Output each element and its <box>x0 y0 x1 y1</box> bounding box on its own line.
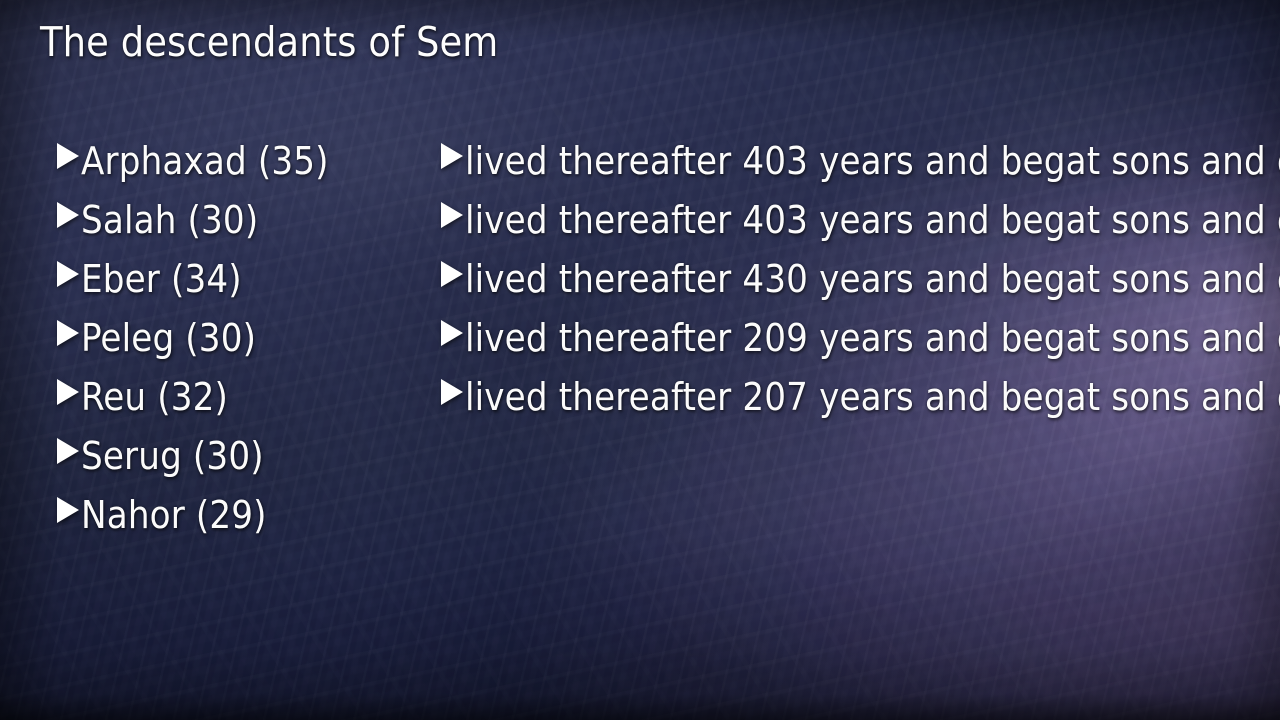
list-item[interactable]: lived thereafter 207 years and begat son… <box>441 375 1280 434</box>
left-bullet-list: Arphaxad (35) Salah (30) Eber (34) Peleg… <box>57 139 329 552</box>
list-item[interactable]: lived thereafter 430 years and begat son… <box>441 257 1280 316</box>
list-item-label: Eber (34) <box>81 257 242 301</box>
list-item-label: lived thereafter 209 years and begat son… <box>465 316 1280 360</box>
triangle-right-icon <box>441 320 463 346</box>
triangle-right-icon <box>441 379 463 405</box>
triangle-right-icon <box>57 202 79 228</box>
list-item-label: Serug (30) <box>81 434 264 478</box>
list-item-label: lived thereafter 403 years and begat son… <box>465 198 1280 242</box>
list-item[interactable]: Reu (32) <box>57 375 329 434</box>
list-item-label: Reu (32) <box>81 375 228 419</box>
triangle-right-icon <box>441 261 463 287</box>
triangle-right-icon <box>57 261 79 287</box>
triangle-right-icon <box>57 497 79 523</box>
presentation-slide: The descendants of Sem Arphaxad (35) Sal… <box>0 0 1280 720</box>
list-item-label: Peleg (30) <box>81 316 256 360</box>
list-item[interactable]: lived thereafter 403 years and begat son… <box>441 198 1280 257</box>
triangle-right-icon <box>57 438 79 464</box>
list-item-label: lived thereafter 430 years and begat son… <box>465 257 1280 301</box>
triangle-right-icon <box>441 143 463 169</box>
list-item[interactable]: Salah (30) <box>57 198 329 257</box>
list-item[interactable]: Nahor (29) <box>57 493 329 552</box>
list-item[interactable]: lived thereafter 403 years and begat son… <box>441 139 1280 198</box>
slide-content: The descendants of Sem Arphaxad (35) Sal… <box>0 0 1280 720</box>
triangle-right-icon <box>57 320 79 346</box>
triangle-right-icon <box>441 202 463 228</box>
list-item-label: lived thereafter 403 years and begat son… <box>465 139 1280 183</box>
list-item-label: Arphaxad (35) <box>81 139 329 183</box>
list-item[interactable]: Peleg (30) <box>57 316 329 375</box>
triangle-right-icon <box>57 143 79 169</box>
list-item[interactable]: Serug (30) <box>57 434 329 493</box>
list-item-label: Salah (30) <box>81 198 258 242</box>
list-item-label: lived thereafter 207 years and begat son… <box>465 375 1280 419</box>
slide-title: The descendants of Sem <box>40 20 498 66</box>
list-item-label: Nahor (29) <box>81 493 267 537</box>
list-item[interactable]: Arphaxad (35) <box>57 139 329 198</box>
list-item[interactable]: lived thereafter 209 years and begat son… <box>441 316 1280 375</box>
right-bullet-list: lived thereafter 403 years and begat son… <box>441 139 1280 434</box>
list-item[interactable]: Eber (34) <box>57 257 329 316</box>
triangle-right-icon <box>57 379 79 405</box>
